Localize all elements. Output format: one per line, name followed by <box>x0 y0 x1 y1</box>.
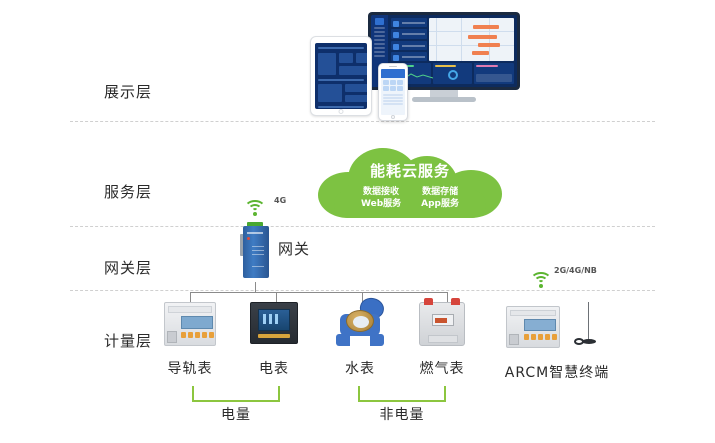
layer-divider-display-service <box>70 121 655 122</box>
gateway-device-icon <box>240 226 270 278</box>
phone-home-button <box>391 115 395 119</box>
din-rail-meter-icon <box>148 302 232 352</box>
gas-meter-icon <box>400 302 484 352</box>
meter-label-water: 水表 <box>318 358 402 378</box>
cloud-item-data-receive: 数据接收 <box>361 186 401 198</box>
layer-label-gateway: 网关层 <box>104 257 204 278</box>
water-meter-icon <box>318 298 402 352</box>
bracket-non-electric-quantity <box>358 386 446 402</box>
meter-electric: 电表 <box>232 302 316 378</box>
cloud-service-node: 能耗云服务 数据接收 Web服务 数据存储 App服务 <box>318 146 502 218</box>
cloud-item-web-service: Web服务 <box>361 198 401 210</box>
tablet-home-button <box>339 109 344 114</box>
phone-speaker <box>389 66 397 67</box>
gateway-network-label: 4G <box>274 196 286 205</box>
phone-app-grid <box>381 78 405 93</box>
bracket-electric-quantity <box>192 386 280 402</box>
bracket-label-electric-quantity: 电量 <box>176 404 296 424</box>
antenna-icon <box>574 302 596 352</box>
cloud-title: 能耗云服务 <box>318 160 502 181</box>
arcm-device-icon <box>506 306 560 348</box>
display-devices-group <box>300 8 540 120</box>
bracket-label-non-electric-quantity: 非电量 <box>342 404 462 424</box>
phone-screen <box>381 69 405 115</box>
meter-label-electric: 电表 <box>232 358 316 378</box>
wifi-signal-icon <box>530 272 552 288</box>
layer-divider-service-gateway <box>70 226 655 227</box>
dashboard-kpi-column <box>391 18 427 61</box>
gateway-label: 网关 <box>278 238 310 259</box>
meter-gas: 燃气表 <box>400 302 484 378</box>
architecture-diagram: 展示层 服务层 网关层 计量层 <box>0 0 715 443</box>
cloud-right-column: 数据存储 App服务 <box>421 186 459 210</box>
arcm-label: ARCM智慧终端 <box>492 362 622 382</box>
dashboard-map-panel <box>429 18 514 61</box>
meter-water: 水表 <box>318 298 402 378</box>
cloud-item-data-storage: 数据存储 <box>421 186 459 198</box>
cloud-item-app-service: App服务 <box>421 198 459 210</box>
tablet-screen <box>315 43 367 109</box>
dashboard-logo-icon <box>375 18 384 25</box>
layer-label-service: 服务层 <box>104 181 204 202</box>
monitor-stand-base <box>412 97 476 102</box>
panel-meter-icon <box>232 302 316 352</box>
phone-app-header <box>381 69 405 78</box>
meter-din-rail: 导轨表 <box>148 302 232 378</box>
layer-label-display: 展示层 <box>104 81 204 102</box>
arcm-smart-terminal: 2G/4G/NB ARCM智慧终端 <box>492 300 622 382</box>
cloud-left-column: 数据接收 Web服务 <box>361 186 401 210</box>
gauge-icon <box>448 70 458 80</box>
dashboard-gauge-card <box>433 63 473 84</box>
meter-label-gas: 燃气表 <box>400 358 484 378</box>
smartphone-icon <box>378 63 408 121</box>
tablet-icon <box>310 36 372 116</box>
arcm-network-label: 2G/4G/NB <box>554 266 597 275</box>
meter-label-din-rail: 导轨表 <box>148 358 232 378</box>
dashboard-table-card <box>474 63 514 84</box>
wifi-signal-icon <box>244 200 266 216</box>
